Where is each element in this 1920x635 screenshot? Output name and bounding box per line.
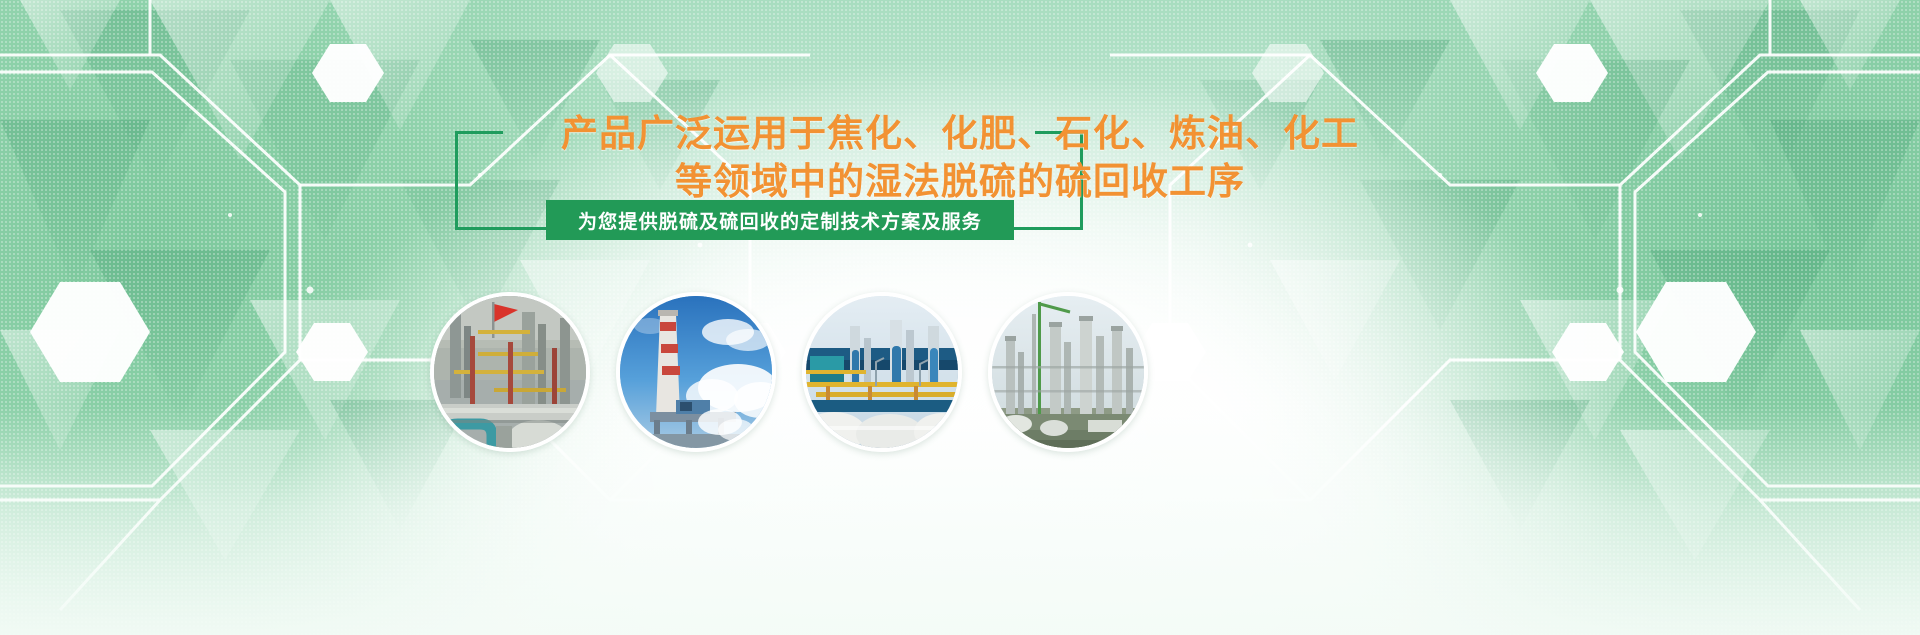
headline-line-1: 产品广泛运用于焦化、化肥、石化、炼油、化工 xyxy=(0,112,1920,155)
subtitle-text: 为您提供脱硫及硫回收的定制技术方案及服务 xyxy=(578,207,982,234)
headline-line-2: 等领域中的湿法脱硫的硫回收工序 xyxy=(0,160,1920,203)
chemical-plant-image xyxy=(806,296,958,448)
photo-circle-refinery-towers[interactable] xyxy=(988,292,1148,452)
frame-bottom-right-line xyxy=(1010,227,1083,230)
refinery-towers-image xyxy=(992,296,1144,448)
promo-banner: 产品广泛运用于焦化、化肥、石化、炼油、化工 等领域中的湿法脱硫的硫回收工序 为您… xyxy=(0,0,1920,635)
refinery-piping-image xyxy=(434,296,586,448)
photo-circle-refinery-piping[interactable] xyxy=(430,292,590,452)
photo-circle-chemical-plant[interactable] xyxy=(802,292,962,452)
banner-headline: 产品广泛运用于焦化、化肥、石化、炼油、化工 等领域中的湿法脱硫的硫回收工序 xyxy=(0,112,1920,203)
photo-circle-chimney-stack[interactable] xyxy=(616,292,776,452)
photo-circle-row xyxy=(0,292,1920,447)
subtitle-bar: 为您提供脱硫及硫回收的定制技术方案及服务 xyxy=(546,200,1014,240)
frame-bottom-left-line xyxy=(455,227,553,230)
chimney-stack-image xyxy=(620,296,772,448)
